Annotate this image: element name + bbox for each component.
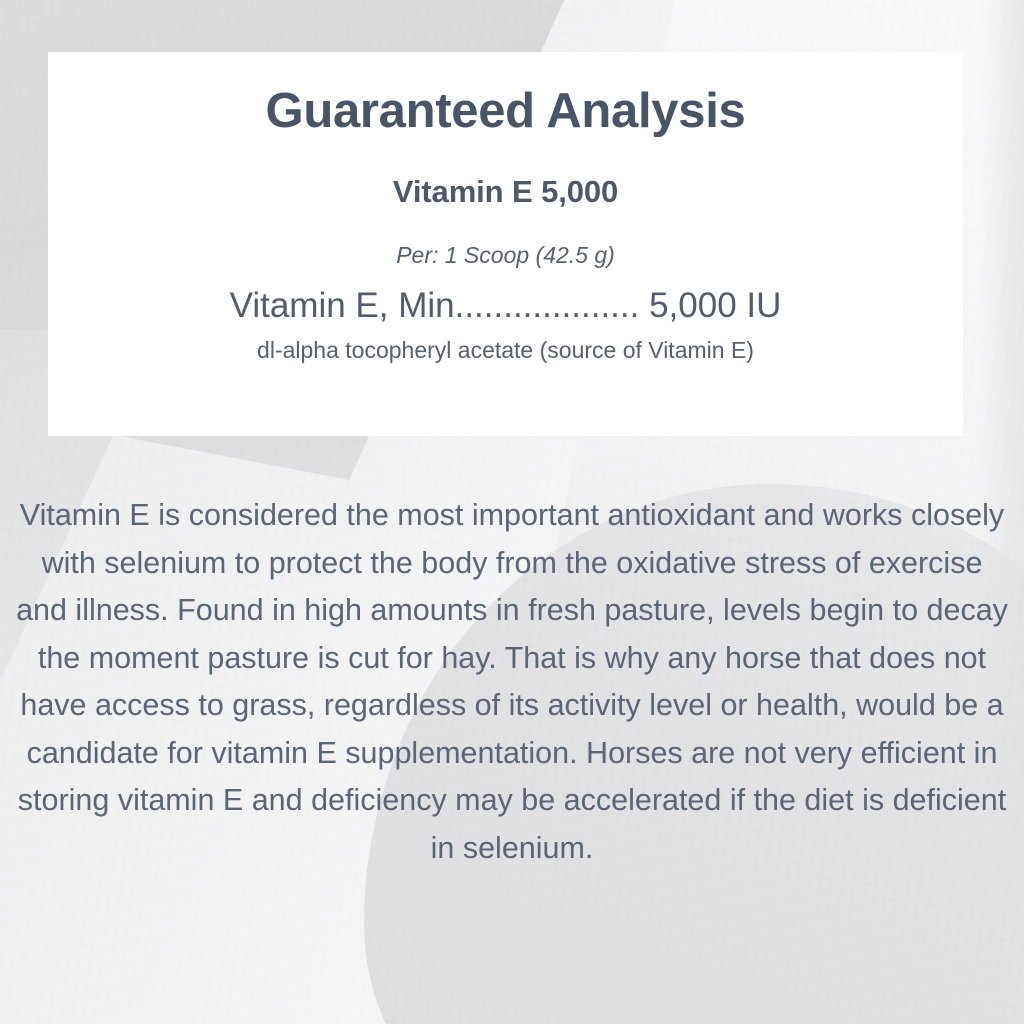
guaranteed-analysis-card: Guaranteed Analysis Vitamin E 5,000 Per:…: [48, 52, 963, 436]
serving-size-label: Per: 1 Scoop (42.5 g): [78, 242, 933, 268]
product-name: Vitamin E 5,000: [78, 175, 933, 209]
page-title: Guaranteed Analysis: [78, 86, 933, 138]
nutrient-row: Vitamin E, Min................... 5,000 …: [78, 286, 933, 326]
product-info-panel: Guaranteed Analysis Vitamin E 5,000 Per:…: [0, 0, 1024, 1024]
nutrient-source-note: dl-alpha tocopheryl acetate (source of V…: [78, 337, 933, 365]
description-paragraph: Vitamin E is considered the most importa…: [14, 492, 1010, 872]
